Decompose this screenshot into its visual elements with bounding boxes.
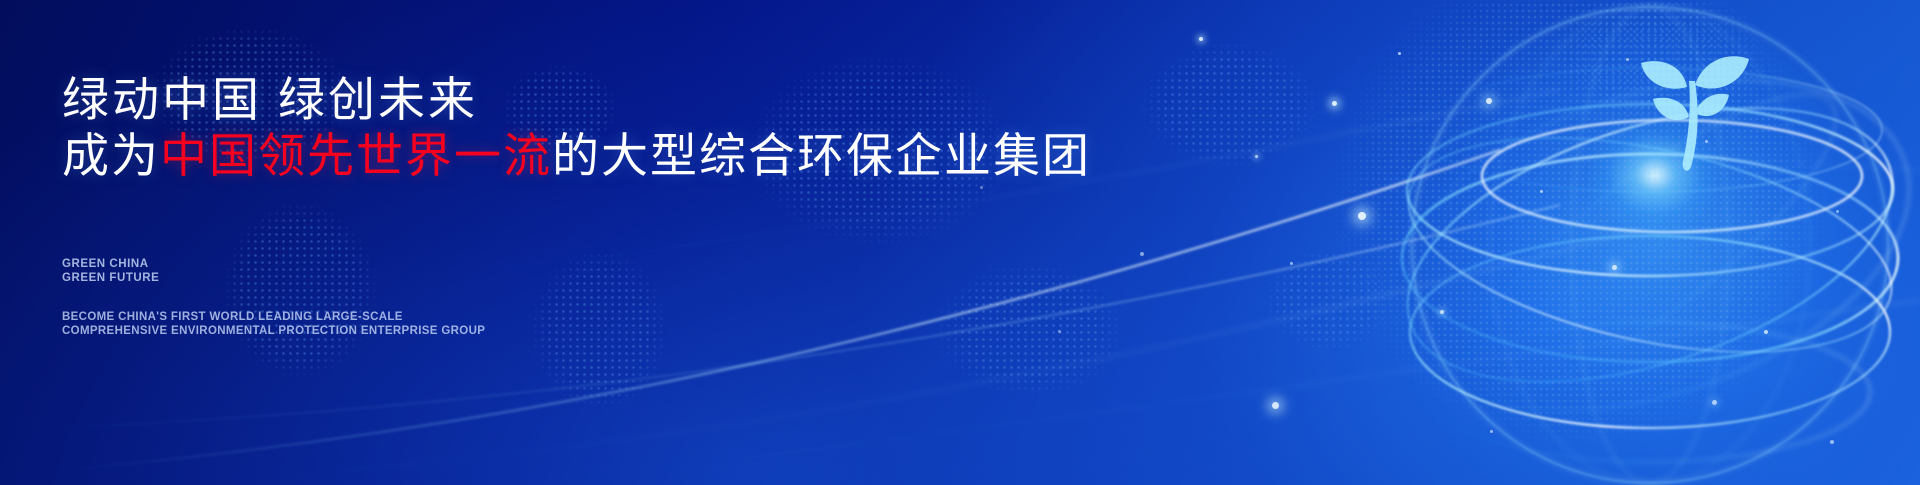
particle [1332, 101, 1337, 106]
particle [1836, 210, 1839, 213]
headline-secondary-prefix: 成为 [62, 129, 160, 182]
description-english: BECOME CHINA'S FIRST WORLD LEADING LARGE… [62, 311, 485, 338]
particle [1272, 402, 1279, 409]
particle [1140, 252, 1144, 256]
particle [1199, 37, 1203, 41]
particle [1540, 190, 1543, 193]
hero-banner: 绿动中国 绿创未来 成为中国领先世界一流的大型综合环保企业集团 GREEN CH… [0, 0, 1920, 485]
particle [1705, 140, 1708, 143]
headline-secondary-suffix: 的大型综合环保企业集团 [552, 129, 1091, 182]
headline-primary: 绿动中国 绿创未来 [62, 76, 478, 123]
particle [1358, 212, 1366, 220]
particle [1398, 52, 1401, 55]
particle [1290, 262, 1293, 265]
headline-secondary: 成为中国领先世界一流的大型综合环保企业集团 [62, 132, 1091, 179]
particle [1255, 155, 1258, 158]
slogan-english: GREEN CHINA GREEN FUTURE [62, 258, 159, 285]
particle [1490, 430, 1493, 433]
headline-secondary-highlight: 中国领先世界一流 [160, 129, 552, 182]
particle [1612, 265, 1617, 270]
particle [1830, 440, 1834, 444]
copy-block: 绿动中国 绿创未来 成为中国领先世界一流的大型综合环保企业集团 GREEN CH… [62, 0, 1062, 485]
particle [1486, 98, 1492, 104]
particle [1626, 58, 1629, 61]
particle [1440, 310, 1444, 314]
particle [1764, 330, 1768, 334]
particle [1712, 400, 1717, 405]
